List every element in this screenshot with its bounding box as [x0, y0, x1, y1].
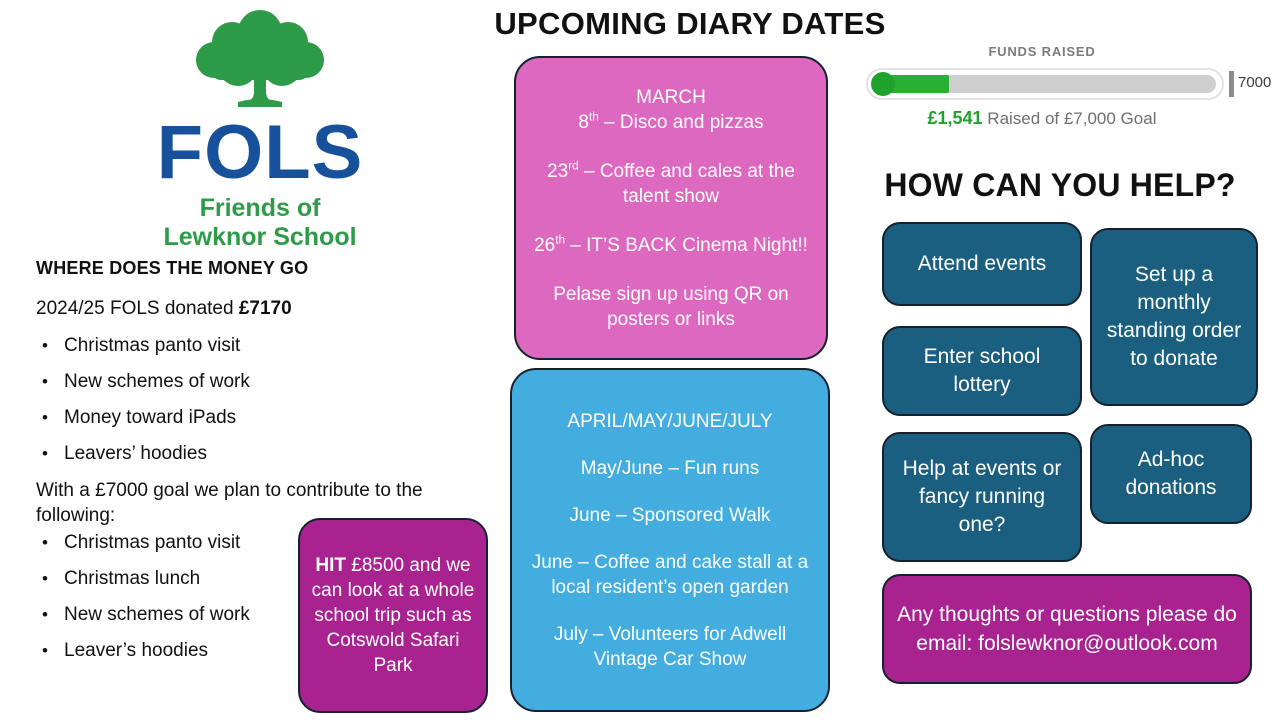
progress-track — [874, 75, 1216, 93]
help-option-standing-order[interactable]: Set up a monthly standing order to donat… — [1090, 228, 1258, 406]
goal-tick-icon — [1229, 71, 1234, 97]
spring-entry-2: June – Sponsored Walk — [569, 503, 770, 528]
logo-subtitle-line2: Lewknor School — [163, 223, 356, 251]
march-entry-3: 26th – IT’S BACK Cinema Night!! — [534, 233, 808, 258]
spring-heading: APRIL/MAY/JUNE/JULY — [567, 409, 772, 434]
list-item: Christmas lunch — [36, 561, 250, 597]
spring-entry-1: May/June – Fun runs — [581, 456, 759, 481]
plan-list: Christmas panto visit Christmas lunch Ne… — [36, 525, 250, 669]
list-item: Money toward iPads — [36, 400, 250, 436]
funds-summary: £1,541 Raised of £7,000 Goal — [862, 108, 1222, 129]
progress-knob[interactable] — [871, 72, 895, 96]
donated-prefix: 2024/25 FOLS donated — [36, 298, 239, 319]
march-entry-2-day: 23 — [547, 161, 568, 182]
spring-entry-4: July – Volunteers for Adwell Vintage Car… — [526, 622, 814, 672]
money-heading: WHERE DOES THE MONEY GO — [36, 258, 308, 279]
logo-subtitle-line1: Friends of — [200, 194, 321, 222]
poster-canvas: FOLS Friends of Lewknor School WHERE DOE… — [0, 0, 1280, 720]
march-entry-1-text: – Disco and pizzas — [599, 112, 764, 133]
help-title: HOW CAN YOU HELP? — [862, 167, 1258, 204]
funds-progress-bar — [866, 68, 1224, 100]
money-spent-list: Christmas panto visit New schemes of wor… — [36, 328, 250, 472]
list-item: Christmas panto visit — [36, 328, 250, 364]
list-item: Christmas panto visit — [36, 525, 250, 561]
help-option-help-at-events[interactable]: Help at events or fancy running one? — [882, 432, 1082, 562]
donated-line: 2024/25 FOLS donated £7170 — [36, 296, 292, 321]
hit-target-callout: HIT £8500 and we can look at a whole sch… — [298, 518, 488, 713]
left-column: FOLS Friends of Lewknor School WHERE DOE… — [0, 0, 500, 720]
funds-raised-label: FUNDS RAISED — [862, 44, 1222, 59]
march-footer: Pelase sign up using QR on posters or li… — [530, 282, 812, 332]
logo-subtitle: Friends of Lewknor School — [120, 194, 400, 252]
list-item: Leavers’ hoodies — [36, 436, 250, 472]
funds-summary-suffix: Raised of £7,000 Goal — [983, 109, 1157, 128]
march-entry-3-day: 26 — [534, 235, 555, 256]
list-item: Leaver’s hoodies — [36, 633, 250, 669]
fols-logo: FOLS Friends of Lewknor School — [120, 8, 400, 252]
march-entry-1: 8th – Disco and pizzas — [578, 110, 763, 135]
list-item: New schemes of work — [36, 597, 250, 633]
march-entry-3-text: – IT’S BACK Cinema Night!! — [565, 235, 808, 256]
diary-card-spring: APRIL/MAY/JUNE/JULY May/June – Fun runs … — [510, 368, 830, 712]
hit-lead: HIT — [315, 555, 346, 576]
march-entry-2-text: – Coffee and cales at the talent show — [579, 161, 795, 207]
logo-acronym: FOLS — [120, 114, 400, 192]
goal-marker-label: 7000 — [1238, 74, 1271, 91]
tree-icon — [180, 8, 340, 118]
page-title: UPCOMING DIARY DATES — [440, 6, 940, 42]
list-item: New schemes of work — [36, 364, 250, 400]
help-option-adhoc-donations[interactable]: Ad-hoc donations — [1090, 424, 1252, 524]
march-entry-1-ord: th — [589, 110, 599, 123]
march-entry-1-day: 8 — [578, 112, 589, 133]
march-entry-3-ord: th — [555, 233, 565, 246]
diary-card-march: MARCH 8th – Disco and pizzas 23rd – Coff… — [514, 56, 828, 360]
contact-email-box[interactable]: Any thoughts or questions please do emai… — [882, 574, 1252, 684]
march-entry-2-ord: rd — [568, 159, 578, 172]
donated-amount: £7170 — [239, 298, 292, 319]
march-heading: MARCH — [636, 85, 706, 110]
help-option-attend-events[interactable]: Attend events — [882, 222, 1082, 306]
spring-entry-3: June – Coffee and cake stall at a local … — [526, 550, 814, 600]
help-option-school-lottery[interactable]: Enter school lottery — [882, 326, 1082, 416]
funds-raised-amount: £1,541 — [928, 108, 983, 128]
march-entry-2: 23rd – Coffee and cales at the talent sh… — [530, 159, 812, 209]
